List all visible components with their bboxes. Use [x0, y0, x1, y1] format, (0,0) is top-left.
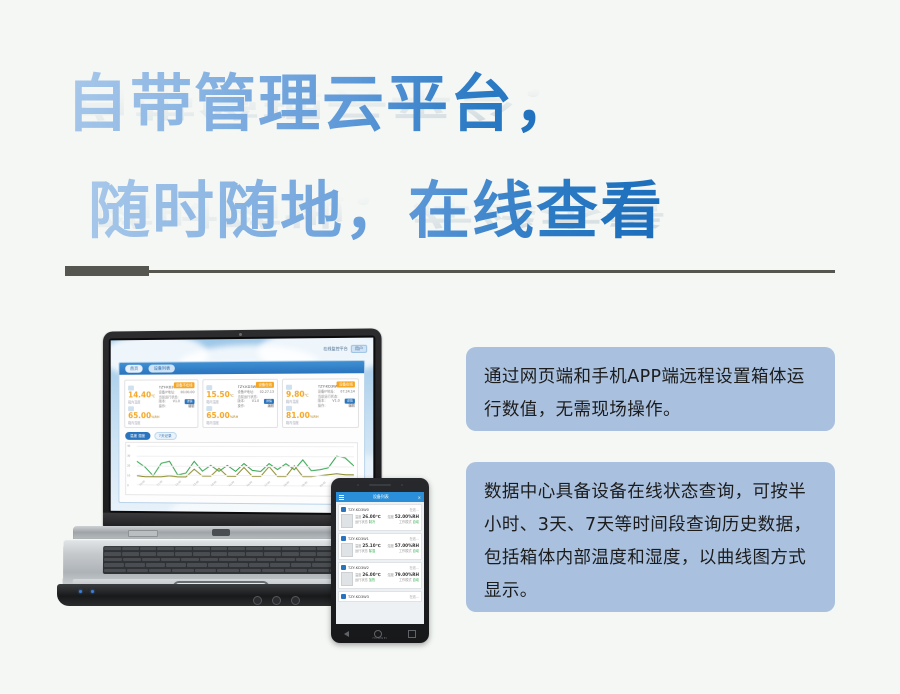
device-flag-icon: [341, 594, 346, 599]
device-flag-icon: [341, 565, 346, 570]
keyboard-key[interactable]: [161, 558, 179, 562]
keyboard-key[interactable]: [125, 563, 145, 567]
keyboard-key[interactable]: [175, 547, 192, 551]
edit-link[interactable]: 编辑: [348, 403, 355, 408]
keyboard-key[interactable]: [249, 563, 269, 567]
hinge-block: [212, 529, 230, 536]
webcam-icon: [239, 333, 242, 336]
mode-value: 自动: [413, 549, 419, 553]
phone-illustration: 设备列表 × TZY-KD3W0 在线… 温度 26.00℃: [331, 478, 429, 643]
vent-grille: [128, 530, 158, 537]
dashboard-window: 首页 设备列表 设备不在线 14.40℃: [118, 360, 365, 505]
keyboard-key[interactable]: [246, 552, 263, 556]
keyboard-key[interactable]: [104, 563, 124, 567]
hum-value: 57.00%RH: [395, 543, 419, 548]
keyboard-key[interactable]: [175, 552, 192, 556]
info-value: 02.27.13: [260, 390, 274, 395]
keyboard-key[interactable]: [140, 552, 157, 556]
keyboard-key[interactable]: [157, 547, 174, 551]
keyboard-row: [104, 552, 352, 556]
state-label: 运行状态: [355, 520, 368, 524]
info-value: 07.24.14: [340, 389, 354, 394]
user-badge[interactable]: 用户: [351, 344, 367, 352]
keyboard-key[interactable]: [172, 569, 194, 573]
status-badge: 设备在线: [337, 381, 355, 387]
mode-value: 自动: [413, 578, 419, 582]
keyboard-key[interactable]: [104, 558, 122, 562]
humidity-value: 81.00%RH: [286, 412, 315, 421]
device-thumbnail: [341, 572, 353, 586]
keyboard-key[interactable]: [181, 558, 199, 562]
device-thumbnail: [341, 543, 353, 557]
device-flag-icon: [341, 536, 346, 541]
humidity-value: 65.00%RH: [206, 412, 234, 421]
chart-plot-area: [137, 446, 354, 486]
divider: [65, 266, 835, 278]
status-badge: 设备不在线: [174, 382, 195, 388]
keyboard-key[interactable]: [312, 563, 332, 567]
hum-label: 湿度: [387, 515, 393, 519]
device-status: 在线…: [409, 536, 419, 541]
keyboard-key[interactable]: [104, 547, 121, 551]
keyboard-key[interactable]: [257, 558, 275, 562]
keyboard-key[interactable]: [127, 569, 149, 573]
keyboard-key[interactable]: [270, 563, 290, 567]
keyboard-key[interactable]: [211, 547, 228, 551]
keyboard-key[interactable]: [194, 569, 216, 573]
app-title: 设备列表: [373, 494, 389, 500]
list-item[interactable]: TZY-KD3W1 在线… 温度 25.10℃ 湿度 57.00%RH 运行状态…: [338, 533, 422, 560]
info-label: 操作：: [159, 404, 168, 409]
hinge-bar: [73, 526, 369, 540]
device-flag-icon: [341, 507, 346, 512]
edit-link[interactable]: 编辑: [188, 404, 194, 409]
keyboard-key[interactable]: [229, 563, 249, 567]
keyboard-key[interactable]: [219, 558, 237, 562]
phone-screen: 设备列表 × TZY-KD3W0 在线… 温度 26.00℃: [336, 492, 424, 624]
keyboard-key[interactable]: [123, 558, 141, 562]
chart-y-tick: 30: [127, 455, 130, 458]
chart-tab-bar: 温度 湿度 7天记录: [119, 430, 364, 441]
hum-label: 湿度: [387, 573, 393, 577]
dashboard-tab-devices[interactable]: 设备列表: [149, 365, 175, 373]
keyboard[interactable]: [103, 546, 353, 574]
device-status: 在线…: [409, 565, 419, 570]
keyboard-key[interactable]: [142, 558, 160, 562]
keyboard-row: [104, 558, 352, 562]
history-chart: 403020100 10:0011:0012:0013:0014:0015:00…: [125, 442, 358, 497]
keyboard-key[interactable]: [122, 547, 139, 551]
temp-value: 25.10℃: [362, 543, 380, 548]
device-card[interactable]: 设备不在线 14.40℃ 箱内温度: [124, 379, 198, 428]
chart-tab-temp-humidity[interactable]: 温度 湿度: [125, 432, 150, 440]
headline-block: 自带管理云平台， 随时随地，在线查看 自带管理云平台， 随时随地，在线查看: [0, 0, 900, 250]
temp-label: 温度: [355, 573, 361, 577]
divider-line: [148, 270, 835, 273]
device-thumbnail: [341, 514, 353, 528]
keyboard-key[interactable]: [193, 552, 210, 556]
keyboard-row: [104, 547, 352, 551]
keyboard-key[interactable]: [140, 547, 157, 551]
device-name: TZY-KD3W1: [348, 537, 407, 541]
humidity-metric: 65.00%RH 箱内湿度: [206, 406, 234, 425]
keyboard-row: [104, 563, 352, 567]
temperature-value: 14.40℃: [128, 391, 156, 400]
list-item[interactable]: TZY-KD3W3 在线…: [338, 591, 422, 602]
mode-label: 工作模式: [399, 549, 412, 553]
info-value: V1.0: [173, 399, 180, 404]
chart-y-tick: 10: [127, 474, 130, 477]
headline-line2: 随时随地，在线查看: [88, 160, 664, 250]
chart-y-axis: 403020100: [127, 445, 136, 485]
keyboard-key[interactable]: [291, 563, 311, 567]
hum-value: 52.00%RH: [395, 514, 419, 519]
humidity-metric: 65.00%RH 箱内湿度: [128, 406, 156, 425]
phone-brand: HUAWEI: [331, 636, 429, 640]
keyboard-key[interactable]: [264, 552, 281, 556]
keyboard-key[interactable]: [295, 558, 313, 562]
chart-y-tick: 20: [127, 465, 130, 468]
humidity-label: 箱内湿度: [286, 421, 315, 425]
phone-nav-bar: [331, 624, 429, 643]
temperature-metric: 15.50℃ 箱内温度: [206, 385, 234, 404]
keyboard-key[interactable]: [104, 552, 121, 556]
hum-value: 79.00%RH: [395, 572, 419, 577]
mode-value: 自动: [413, 520, 419, 524]
mode-label: 工作模式: [399, 520, 412, 524]
keyboard-key[interactable]: [200, 558, 218, 562]
keyboard-key[interactable]: [187, 563, 207, 567]
state-value: 制冷: [369, 520, 375, 524]
app-topbar: 设备列表 ×: [336, 492, 424, 502]
mic-port-icon: [272, 596, 281, 605]
keyboard-key[interactable]: [300, 552, 317, 556]
state-value: 加热: [369, 578, 375, 582]
keyboard-key[interactable]: [228, 547, 245, 551]
earpiece-speaker: [369, 484, 391, 486]
temperature-label: 箱内温度: [128, 400, 156, 404]
keyboard-key[interactable]: [166, 563, 186, 567]
humidity-label: 箱内湿度: [128, 421, 156, 425]
browser-topbar: 在线监控平台 用户: [323, 345, 367, 352]
humidity-metric: 81.00%RH 箱内湿度: [286, 406, 315, 425]
device-card[interactable]: 设备在线 15.50℃ 箱内温度: [202, 379, 278, 428]
device-card-list: 设备不在线 14.40℃ 箱内温度: [119, 373, 364, 430]
keyboard-key[interactable]: [208, 563, 228, 567]
phone-device-list: TZY-KD3W0 在线… 温度 26.00℃ 湿度 52.00%RH 运行状态…: [336, 502, 424, 604]
divider-accent-block: [65, 266, 149, 276]
keyboard-key[interactable]: [246, 547, 263, 551]
list-item[interactable]: TZY-KD3W2 在线… 温度 26.00℃ 湿度 79.00%RH 运行状态…: [338, 562, 422, 589]
temp-label: 温度: [355, 544, 361, 548]
activity-led-icon: [91, 590, 94, 593]
power-led-icon: [79, 590, 82, 593]
keyboard-key[interactable]: [299, 547, 316, 551]
proximity-sensor-icon: [401, 484, 403, 486]
card-metrics: 9.80℃ 箱内温度 81.00%RH 箱内湿度: [286, 383, 315, 425]
state-value: 除湿: [369, 549, 375, 553]
keyboard-key[interactable]: [282, 547, 299, 551]
keyboard-key[interactable]: [285, 569, 307, 573]
info-value: V1.0: [332, 399, 339, 404]
callout-box-2: 数据中心具备设备在线状态查询，可按半小时、3天、7天等时间段查询历史数据，包括箱…: [466, 462, 835, 612]
chart-tab-7day[interactable]: 7天记录: [154, 432, 177, 440]
headphone-port-icon: [291, 596, 300, 605]
temperature-label: 箱内温度: [286, 400, 315, 404]
keyboard-key[interactable]: [104, 569, 126, 573]
audio-port-icon: [253, 596, 262, 605]
info-label: 操作：: [238, 404, 248, 409]
device-name: TZY-KD3W3: [348, 595, 407, 599]
temperature-metric: 14.40℃ 箱内温度: [128, 385, 156, 404]
temperature-value: 9.80℃: [286, 391, 315, 400]
temp-value: 26.00℃: [362, 514, 380, 519]
chart-x-axis: 10:0011:0012:0013:0014:0015:0016:0017:00…: [137, 484, 354, 495]
hamburger-menu-icon[interactable]: [339, 495, 344, 500]
keyboard-key[interactable]: [193, 547, 210, 551]
card-info: TZY-KD3W1 设备IP地址：07.24.14 当前运行状态： 版本：V1.…: [318, 382, 355, 425]
keyboard-key[interactable]: [122, 552, 139, 556]
chart-y-tick: 40: [127, 445, 130, 448]
hum-label: 湿度: [387, 544, 393, 548]
state-label: 运行状态: [355, 578, 368, 582]
keyboard-key[interactable]: [149, 569, 171, 573]
keyboard-key[interactable]: [145, 563, 165, 567]
temperature-value: 15.50℃: [206, 391, 234, 400]
keyboard-key[interactable]: [262, 569, 284, 573]
device-card[interactable]: 设备在线 9.80℃ 箱内温度: [282, 378, 359, 428]
status-badge: 设备在线: [256, 382, 274, 388]
keyboard-key[interactable]: [240, 569, 262, 573]
front-camera-icon: [357, 484, 359, 486]
keyboard-key[interactable]: [282, 552, 299, 556]
temp-label: 温度: [355, 515, 361, 519]
temperature-metric: 9.80℃ 箱内温度: [286, 385, 315, 404]
platform-title: 在线监控平台: [323, 345, 347, 351]
poster-stage: 自带管理云平台， 随时随地，在线查看 自带管理云平台， 随时随地，在线查看 通过…: [0, 0, 900, 694]
temperature-label: 箱内温度: [206, 400, 234, 404]
device-name: TZY-KD3W0: [348, 508, 407, 512]
keyboard-key[interactable]: [157, 552, 174, 556]
chart-y-tick: 0: [127, 484, 129, 487]
callout-box-1: 通过网页端和手机APP端远程设置箱体运行数值，无需现场操作。: [466, 347, 835, 431]
keyboard-key[interactable]: [308, 569, 330, 573]
list-item[interactable]: TZY-KD3W0 在线… 温度 26.00℃ 湿度 52.00%RH 运行状态…: [338, 504, 422, 531]
device-status: 在线…: [409, 594, 419, 599]
keyboard-key[interactable]: [264, 547, 281, 551]
keyboard-row: [104, 569, 352, 573]
keyboard-key[interactable]: [217, 569, 239, 573]
app-close-icon[interactable]: ×: [418, 495, 421, 500]
card-info: TZY-KD3W2 设备IP地址：02.27.13 当前运行状态： 版本：V1.…: [238, 383, 274, 425]
card-info: TZY-KD3W0 设备IP地址：00.00.00 当前运行状态： 版本：V1.…: [159, 383, 195, 425]
keyboard-key[interactable]: [211, 552, 228, 556]
info-value: 00.00.00: [181, 390, 195, 395]
device-name: TZY-KD3W2: [348, 566, 407, 570]
keyboard-key[interactable]: [238, 558, 256, 562]
dashboard-tab-home[interactable]: 首页: [125, 365, 143, 373]
mode-label: 工作模式: [399, 578, 412, 582]
temp-value: 26.00℃: [362, 572, 380, 577]
info-value: V1.0: [252, 399, 259, 404]
humidity-value: 65.00%RH: [128, 412, 156, 421]
humidity-label: 箱内湿度: [206, 421, 234, 425]
headline-line1: 自带管理云平台，: [66, 53, 578, 143]
keyboard-key[interactable]: [228, 552, 245, 556]
info-label: 操作：: [318, 404, 328, 409]
card-metrics: 15.50℃ 箱内温度 65.00%RH 箱内湿度: [206, 383, 234, 425]
edit-link[interactable]: 编辑: [268, 404, 274, 409]
keyboard-key[interactable]: [276, 558, 294, 562]
state-label: 运行状态: [355, 549, 368, 553]
card-metrics: 14.40℃ 箱内温度 65.00%RH 箱内湿度: [128, 383, 156, 425]
device-status: 在线…: [409, 507, 419, 512]
